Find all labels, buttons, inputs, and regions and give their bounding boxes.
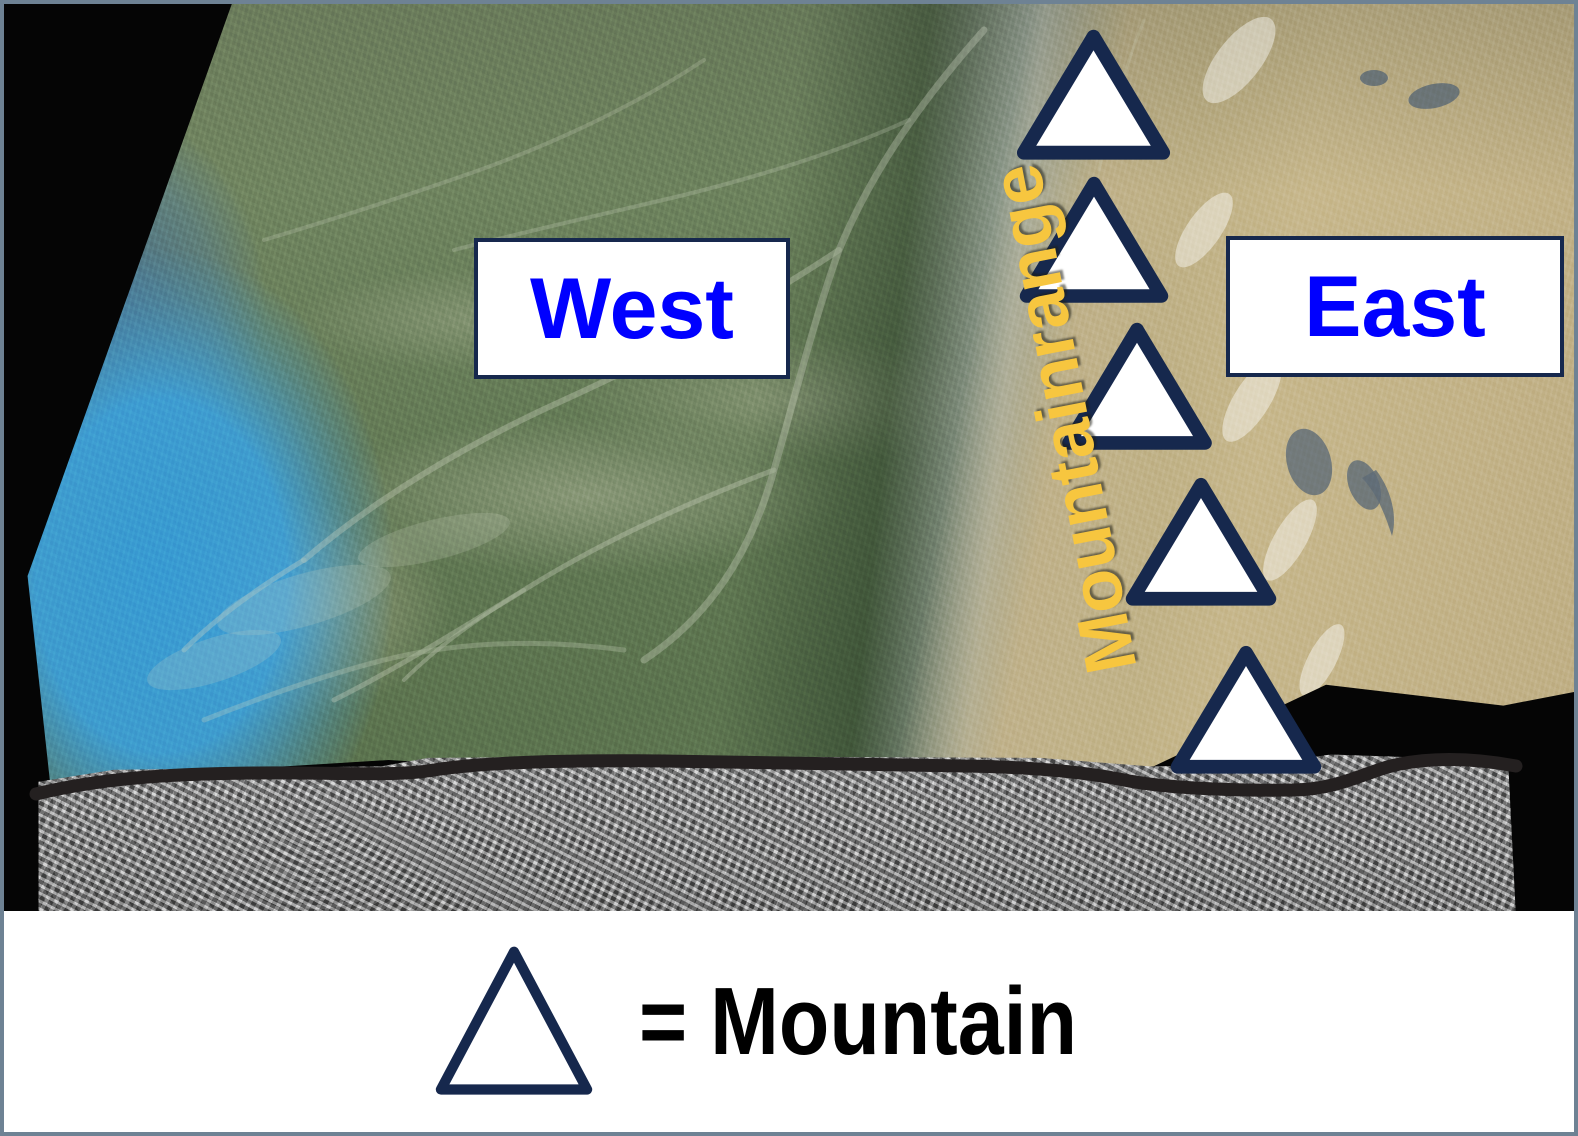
west-label-box: West (474, 238, 790, 379)
mountain-marker-icon[interactable] (1125, 477, 1277, 608)
mountain-marker-icon[interactable] (1018, 176, 1170, 305)
diagram-page: Mountainrange West East = Mountain (0, 0, 1578, 1136)
mountain-marker-icon[interactable] (1061, 322, 1213, 452)
mountain-triangle-icon (429, 939, 599, 1104)
legend-panel: = Mountain (4, 911, 1574, 1132)
map-stage: Mountainrange West East (4, 4, 1574, 911)
mountain-marker-icon[interactable] (1170, 645, 1322, 776)
legend-label: = Mountain (639, 974, 1077, 1070)
mountain-marker-icon[interactable] (1015, 29, 1172, 162)
bedrock-cross-section (4, 746, 1574, 911)
east-label-box: East (1226, 236, 1564, 377)
west-label-text: West (530, 266, 734, 352)
terrain-block (4, 4, 1574, 911)
terrain-surface (4, 4, 1574, 800)
east-label-text: East (1304, 264, 1486, 350)
